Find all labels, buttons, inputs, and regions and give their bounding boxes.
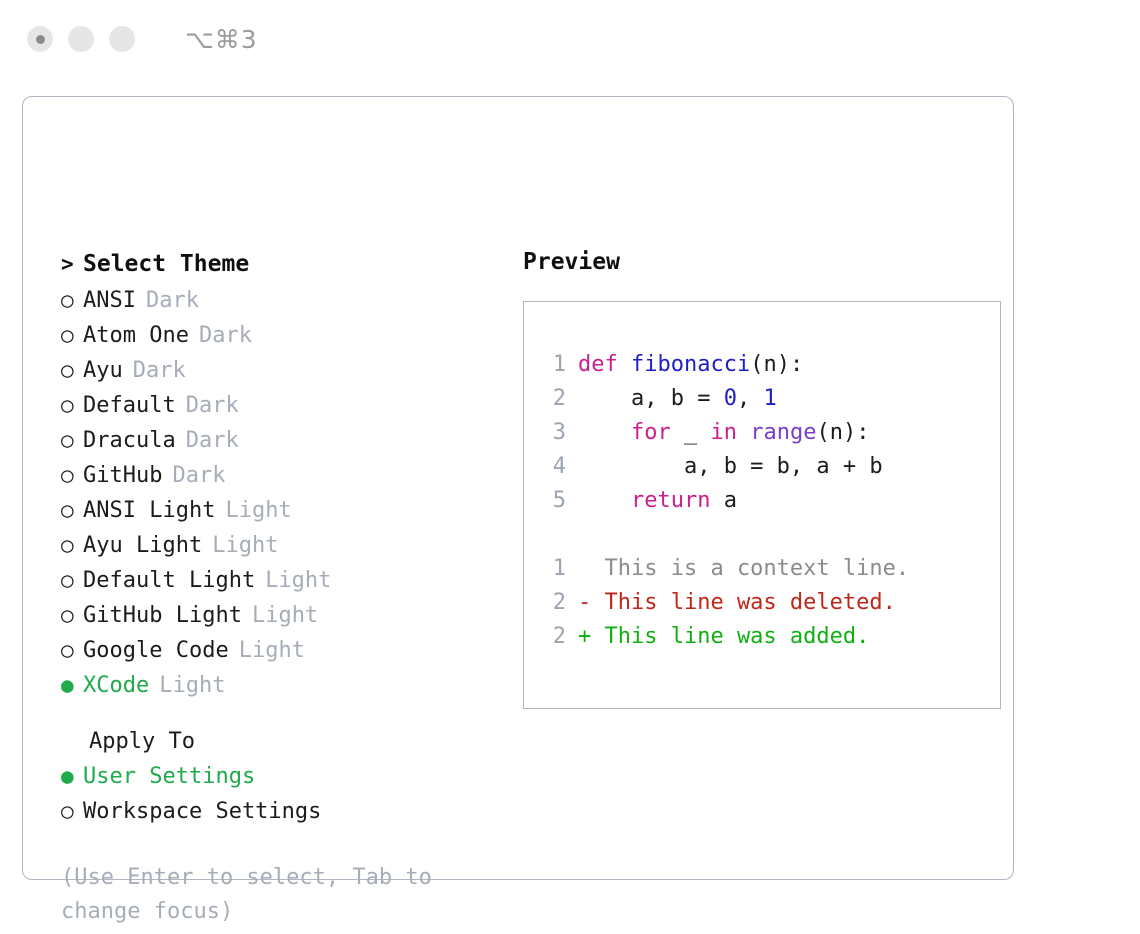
theme-name-label: Atom One xyxy=(83,319,189,353)
theme-list-item[interactable]: ○AyuDark xyxy=(61,353,501,388)
active-dot-indicator xyxy=(36,35,45,44)
code-line: 3 for _ in range(n): xyxy=(540,416,1000,450)
titlebar: ⌥⌘3 xyxy=(0,0,1140,78)
code-token: 0 xyxy=(724,386,737,411)
code-token: + This line was added. xyxy=(578,624,869,649)
theme-list-item[interactable]: ○GitHubDark xyxy=(61,458,501,493)
theme-name-label: Google Code xyxy=(83,634,229,668)
select-theme-heading-label: Select Theme xyxy=(83,245,249,283)
code-token xyxy=(737,420,750,445)
code-line: 4 a, b = b, a + b xyxy=(540,450,1000,484)
window-dot-active[interactable] xyxy=(27,26,53,52)
code-token: _ xyxy=(671,420,711,445)
theme-name-label: ANSI xyxy=(83,284,136,318)
code-token: in xyxy=(710,420,737,445)
apply-to-option-list: ●User Settings○Workspace Settings xyxy=(61,759,501,829)
theme-variant-label: Light xyxy=(255,564,331,598)
line-number: 4 xyxy=(540,450,566,484)
apply-to-option-label: Workspace Settings xyxy=(83,795,321,829)
theme-variant-label: Light xyxy=(242,599,318,633)
code-token: a xyxy=(710,488,737,513)
theme-list-item[interactable]: ○GitHub LightLight xyxy=(61,598,501,633)
code-line: 5 return a xyxy=(540,484,1000,518)
code-sample: 1def fibonacci(n):2 a, b = 0, 13 for _ i… xyxy=(540,348,1000,518)
line-number: 2 xyxy=(540,620,566,654)
apply-to-option-label: User Settings xyxy=(83,760,255,794)
code-token: def xyxy=(578,352,631,377)
line-number: 2 xyxy=(540,382,566,416)
preview-heading: Preview xyxy=(523,249,1013,275)
theme-variant-label: Dark xyxy=(176,424,239,458)
theme-list-item[interactable]: ●XCodeLight xyxy=(61,668,501,703)
code-token: for xyxy=(631,420,671,445)
code-token: a, b = xyxy=(578,386,724,411)
theme-variant-label: Dark xyxy=(189,319,252,353)
radio-unselected-icon: ○ xyxy=(61,633,83,667)
theme-name-label: GitHub xyxy=(83,459,162,493)
diff-sample: 1 This is a context line.2- This line wa… xyxy=(540,552,1000,654)
select-theme-heading: > Select Theme xyxy=(61,245,501,283)
radio-unselected-icon: ○ xyxy=(61,563,83,597)
diff-line: 1 This is a context line. xyxy=(540,552,1000,586)
radio-unselected-icon: ○ xyxy=(61,794,83,828)
theme-variant-label: Dark xyxy=(123,354,186,388)
radio-unselected-icon: ○ xyxy=(61,528,83,562)
code-line-text: This is a context line. xyxy=(578,552,909,586)
code-token: - This line was deleted. xyxy=(578,590,896,615)
theme-variant-label: Dark xyxy=(162,459,225,493)
theme-name-label: Default Light xyxy=(83,564,255,598)
radio-selected-icon: ● xyxy=(61,759,83,793)
code-token: return xyxy=(631,488,710,513)
theme-name-label: Dracula xyxy=(83,424,176,458)
radio-unselected-icon: ○ xyxy=(61,283,83,317)
code-token: (n): xyxy=(750,352,803,377)
radio-unselected-icon: ○ xyxy=(61,423,83,457)
theme-name-label: XCode xyxy=(83,669,149,703)
theme-variant-label: Dark xyxy=(136,284,199,318)
app-canvas: ⌥⌘3 > Select Theme ○ANSIDark○Atom OneDar… xyxy=(0,0,1140,934)
line-number: 3 xyxy=(540,416,566,450)
diff-line: 2+ This line was added. xyxy=(540,620,1000,654)
theme-name-label: Ayu Light xyxy=(83,529,202,563)
line-number: 2 xyxy=(540,586,566,620)
preview-panel: Preview 1def fibonacci(n):2 a, b = 0, 13… xyxy=(523,249,1013,709)
prompt-caret-icon: > xyxy=(61,245,83,283)
theme-variant-label: Dark xyxy=(176,389,239,423)
code-token: range xyxy=(750,420,816,445)
theme-list-item[interactable]: ○Default LightLight xyxy=(61,563,501,598)
keyboard-shortcut-label: ⌥⌘3 xyxy=(185,25,258,54)
window-dot-second[interactable] xyxy=(68,26,94,52)
code-line-text: return a xyxy=(578,484,737,518)
code-line-text: def fibonacci(n): xyxy=(578,348,803,382)
theme-list-item[interactable]: ○DefaultDark xyxy=(61,388,501,423)
radio-unselected-icon: ○ xyxy=(61,458,83,492)
code-line: 2 a, b = 0, 1 xyxy=(540,382,1000,416)
preview-code-box: 1def fibonacci(n):2 a, b = 0, 13 for _ i… xyxy=(523,301,1001,709)
radio-unselected-icon: ○ xyxy=(61,493,83,527)
code-token: 1 xyxy=(763,386,776,411)
code-line: 1def fibonacci(n): xyxy=(540,348,1000,382)
line-number: 1 xyxy=(540,348,566,382)
theme-name-label: Default xyxy=(83,389,176,423)
theme-list-item[interactable]: ○Atom OneDark xyxy=(61,318,501,353)
code-token xyxy=(578,488,631,513)
apply-to-option[interactable]: ○Workspace Settings xyxy=(61,794,501,829)
theme-option-list: ○ANSIDark○Atom OneDark○AyuDark○DefaultDa… xyxy=(61,283,501,703)
theme-variant-label: Light xyxy=(215,494,291,528)
code-line-text: + This line was added. xyxy=(578,620,869,654)
theme-list-item[interactable]: ○ANSI LightLight xyxy=(61,493,501,528)
theme-list: > Select Theme ○ANSIDark○Atom OneDark○Ay… xyxy=(61,245,501,703)
theme-list-item[interactable]: ○Ayu LightLight xyxy=(61,528,501,563)
keyboard-hint-text: (Use Enter to select, Tab to change focu… xyxy=(61,861,481,929)
code-token: a, b = b, a + b xyxy=(578,454,883,479)
theme-name-label: GitHub Light xyxy=(83,599,242,633)
code-token: (n): xyxy=(816,420,869,445)
code-line-text: - This line was deleted. xyxy=(578,586,896,620)
line-number: 1 xyxy=(540,552,566,586)
theme-name-label: ANSI Light xyxy=(83,494,215,528)
theme-list-item[interactable]: ○ANSIDark xyxy=(61,283,501,318)
theme-variant-label: Light xyxy=(202,529,278,563)
radio-selected-icon: ● xyxy=(61,668,83,702)
theme-list-item[interactable]: ○DraculaDark xyxy=(61,423,501,458)
code-token: , xyxy=(737,386,764,411)
code-line-text: a, b = 0, 1 xyxy=(578,382,777,416)
radio-unselected-icon: ○ xyxy=(61,598,83,632)
main-window-frame: > Select Theme ○ANSIDark○Atom OneDark○Ay… xyxy=(22,96,1014,880)
line-number: 5 xyxy=(540,484,566,518)
window-dot-third[interactable] xyxy=(109,26,135,52)
code-line-text: for _ in range(n): xyxy=(578,416,869,450)
radio-unselected-icon: ○ xyxy=(61,388,83,422)
radio-unselected-icon: ○ xyxy=(61,353,83,387)
code-token xyxy=(578,420,631,445)
diff-line: 2- This line was deleted. xyxy=(540,586,1000,620)
theme-name-label: Ayu xyxy=(83,354,123,388)
theme-variant-label: Light xyxy=(149,669,225,703)
code-spacer xyxy=(540,518,1000,552)
code-token: fibonacci xyxy=(631,352,750,377)
apply-to-option[interactable]: ●User Settings xyxy=(61,759,501,794)
apply-to-heading: Apply To xyxy=(61,725,501,759)
theme-variant-label: Light xyxy=(229,634,305,668)
radio-unselected-icon: ○ xyxy=(61,318,83,352)
apply-to-section: Apply To ●User Settings○Workspace Settin… xyxy=(61,725,501,829)
code-token: This is a context line. xyxy=(578,556,909,581)
code-line-text: a, b = b, a + b xyxy=(578,450,883,484)
theme-list-item[interactable]: ○Google CodeLight xyxy=(61,633,501,668)
